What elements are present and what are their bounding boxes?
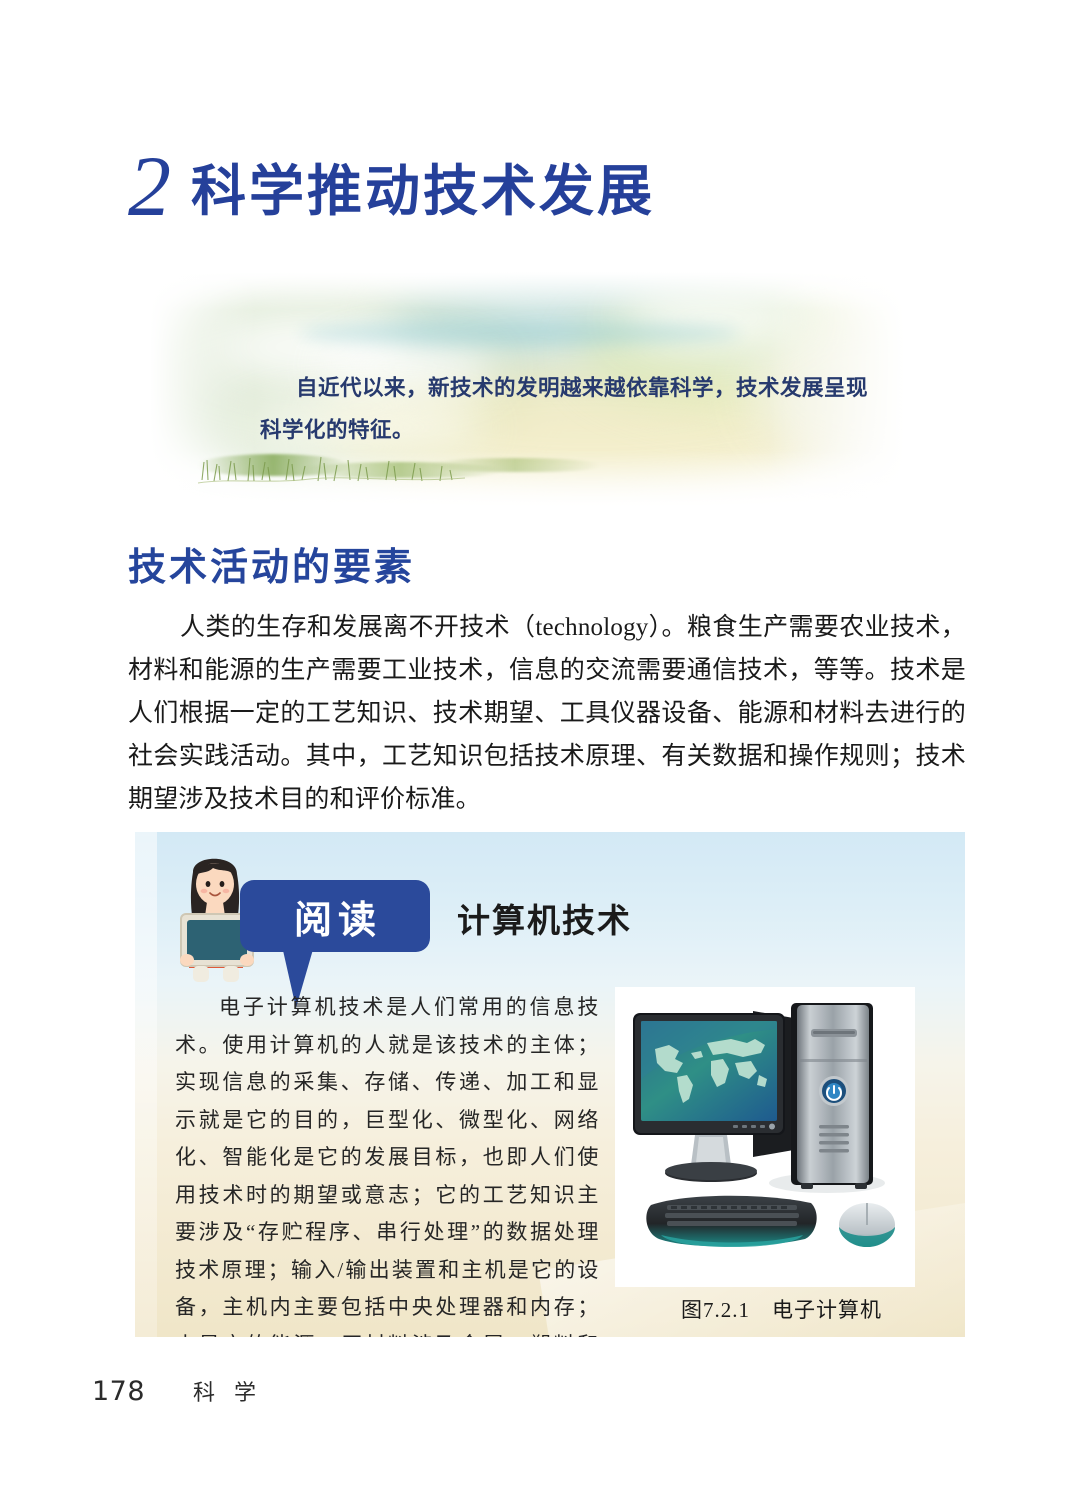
reading-body-text: 电子计算机技术是人们常用的信息技术。使用计算机的人就是该技术的主体；实现信息的采… xyxy=(175,989,600,1337)
textbook-page: 2 科学推动技术发展 xyxy=(0,0,1088,1508)
chapter-number: 2 xyxy=(128,150,169,223)
page-title: 2 科学推动技术发展 xyxy=(128,150,655,223)
quote-text: 自近代以来，新技术的发明越来越依靠科学，技术发展呈现科学化的特征。 xyxy=(260,367,880,451)
page-footer: 178 科 学 xyxy=(92,1375,262,1407)
footer-subject: 科 学 xyxy=(193,1375,262,1407)
page-number: 178 xyxy=(92,1376,145,1407)
reading-box: 阅读 计算机技术 电子计算机技术是人们常用的信息技术。使用计算机的人就是该技术的… xyxy=(135,832,965,1337)
reading-badge-label: 阅读 xyxy=(288,889,382,944)
figure-caption: 图7.2.1 电子计算机 xyxy=(681,1294,882,1324)
reading-title: 计算机技术 xyxy=(457,894,632,942)
body-paragraph: 人类的生存和发展离不开技术（technology）。粮食生产需要农业技术，材料和… xyxy=(128,606,966,821)
reading-badge-body: 阅读 xyxy=(240,880,430,952)
reading-badge: 阅读 xyxy=(240,880,430,960)
reading-box-left-strip xyxy=(135,832,157,1337)
chapter-title-text: 科学推动技术发展 xyxy=(191,164,655,223)
desktop-computer-photo xyxy=(615,987,915,1287)
section-heading: 技术活动的要素 xyxy=(128,536,415,591)
quote-banner: 自近代以来，新技术的发明越来越依靠科学，技术发展呈现科学化的特征。 xyxy=(150,272,905,507)
